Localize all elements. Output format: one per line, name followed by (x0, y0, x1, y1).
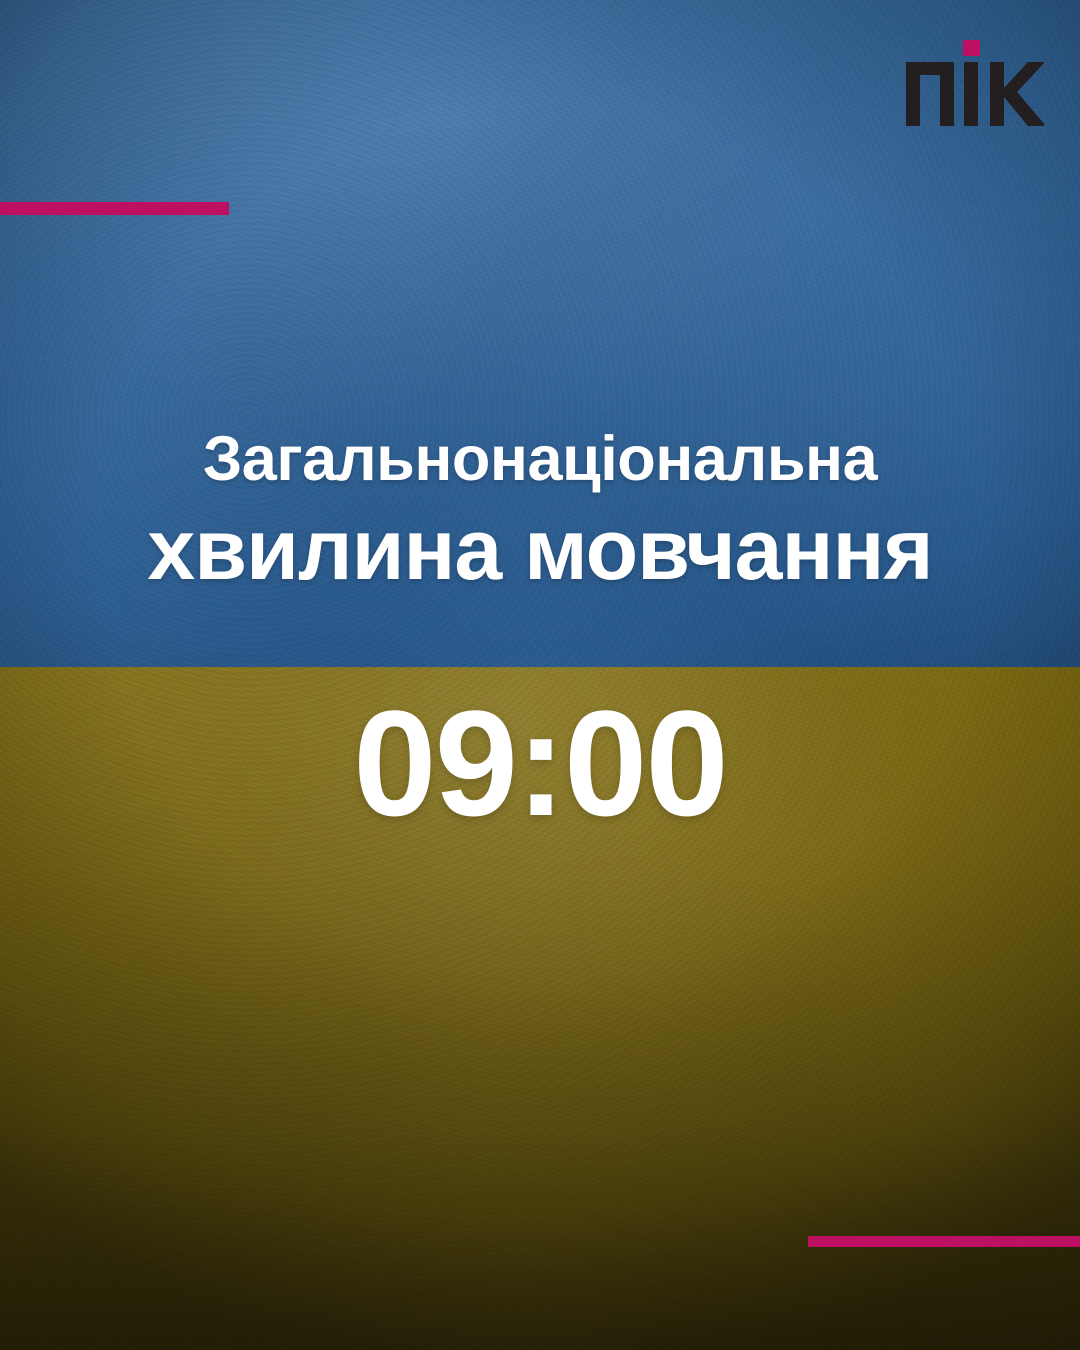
headline-line-2: хвилина мовчання (0, 507, 1080, 593)
pik-logo (904, 36, 1044, 126)
accent-rule-bottom-right (808, 1236, 1080, 1247)
time-display: 09:00 (0, 688, 1080, 838)
headline-block: Загальнонаціональна хвилина мовчання (0, 428, 1080, 593)
social-card: Загальнонаціональна хвилина мовчання 09:… (0, 0, 1080, 1350)
logo-dot-icon (963, 40, 980, 56)
accent-rule-top-left (0, 202, 229, 215)
headline-line-1: Загальнонаціональна (0, 428, 1080, 491)
